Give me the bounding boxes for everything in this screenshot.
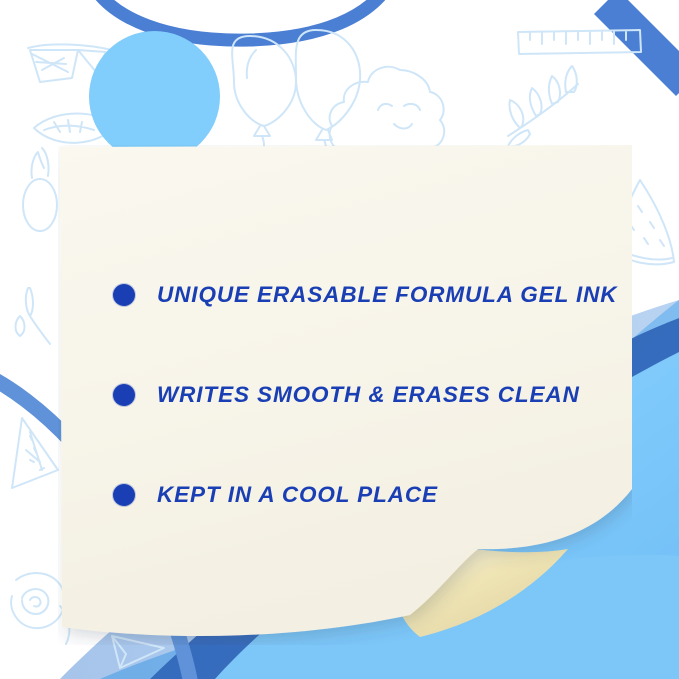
feature-label: WRITES SMOOTH & ERASES CLEAN — [157, 384, 580, 407]
bullet-dot-icon — [113, 484, 135, 506]
list-item: UNIQUE ERASABLE FORMULA GEL INK — [113, 245, 613, 345]
promo-graphic: UNIQUE ERASABLE FORMULA GEL INK WRITES S… — [0, 0, 679, 679]
scissors-doodle — [16, 288, 51, 344]
blue-circle-accent — [89, 31, 220, 162]
feature-label: KEPT IN A COOL PLACE — [157, 484, 438, 507]
list-item: KEPT IN A COOL PLACE — [113, 445, 613, 545]
triangle-ruler-doodle — [12, 418, 58, 488]
ruler-doodle — [518, 30, 641, 54]
list-item: WRITES SMOOTH & ERASES CLEAN — [113, 345, 613, 445]
bullet-dot-icon — [113, 284, 135, 306]
note-card: UNIQUE ERASABLE FORMULA GEL INK WRITES S… — [58, 145, 632, 645]
pineapple-doodle — [23, 148, 57, 231]
feature-label: UNIQUE ERASABLE FORMULA GEL INK — [157, 284, 617, 307]
bullet-dot-icon — [113, 384, 135, 406]
branch-doodle — [508, 66, 578, 146]
feature-list: UNIQUE ERASABLE FORMULA GEL INK WRITES S… — [113, 245, 613, 545]
